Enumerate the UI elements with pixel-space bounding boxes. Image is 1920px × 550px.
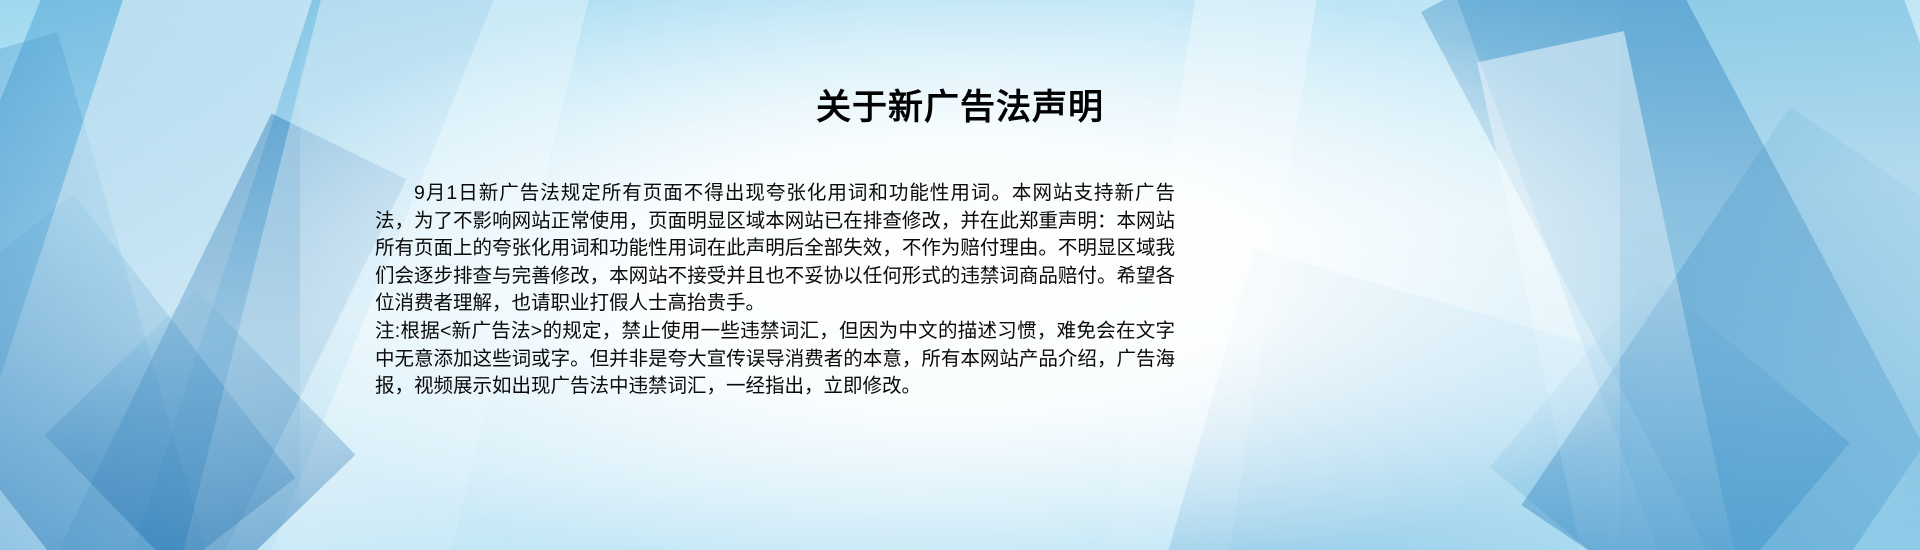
statement-content: 关于新广告法声明 9月1日新广告法规定所有页面不得出现夸张化用词和功能性用词。本… [0,0,1920,550]
advertising-law-statement-banner: 关于新广告法声明 9月1日新广告法规定所有页面不得出现夸张化用词和功能性用词。本… [0,0,1920,550]
statement-body: 9月1日新广告法规定所有页面不得出现夸张化用词和功能性用词。本网站支持新广告法，… [375,180,1175,401]
page-title: 关于新广告法声明 [0,86,1920,130]
statement-paragraph-1: 9月1日新广告法规定所有页面不得出现夸张化用词和功能性用词。本网站支持新广告法，… [375,180,1175,318]
statement-paragraph-2: 注:根据<新广告法>的规定，禁止使用一些违禁词汇，但因为中文的描述习惯，难免会在… [375,318,1175,401]
